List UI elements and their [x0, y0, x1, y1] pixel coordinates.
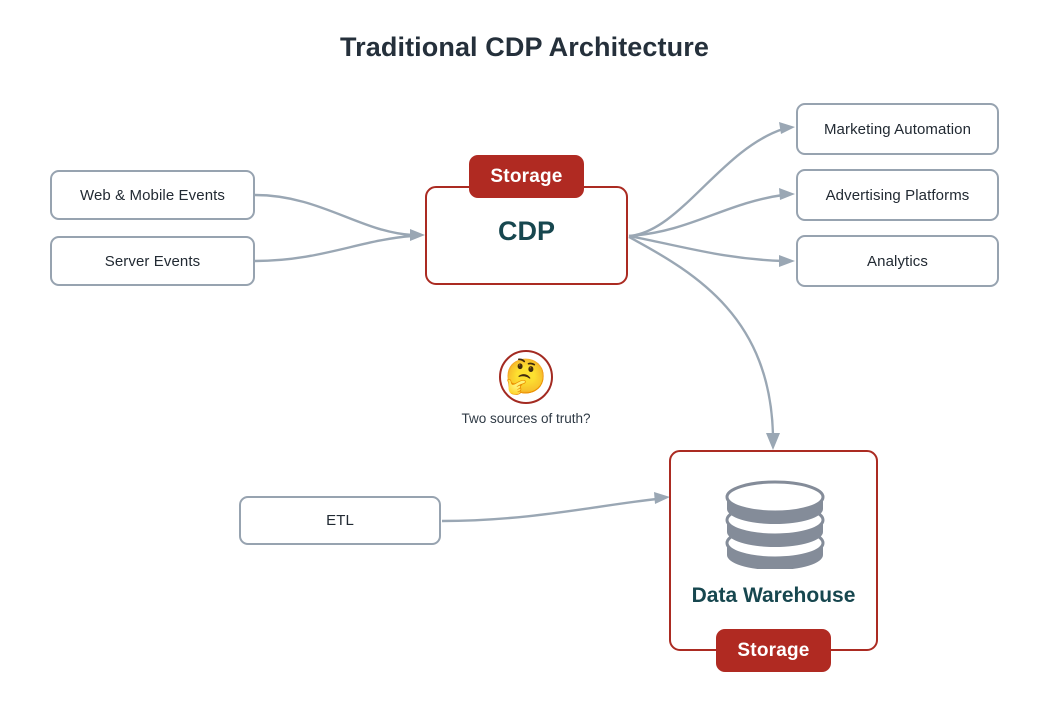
arrowhead-data-warehouse-left [654, 492, 670, 504]
node-web-mobile-events[interactable]: Web & Mobile Events [50, 170, 255, 220]
node-label: Server Events [105, 253, 201, 270]
node-server-events[interactable]: Server Events [50, 236, 255, 286]
node-data-warehouse-label: Data Warehouse [671, 584, 876, 608]
arrowhead-advertising-platforms [779, 188, 795, 200]
node-data-warehouse[interactable]: Data Warehouse [669, 450, 878, 651]
link-server-events-to-cdp [255, 236, 412, 261]
arrowhead-analytics [779, 255, 795, 267]
thinking-emoji-badge: 🤔 [499, 350, 553, 404]
database-cylinder-icon [721, 477, 829, 569]
annotation-caption: Two sources of truth? [396, 411, 656, 426]
arrowhead-data-warehouse-top [766, 433, 780, 450]
thinking-face-icon: 🤔 [505, 360, 547, 394]
link-cdp-to-data-warehouse [629, 237, 773, 435]
link-cdp-to-advertising-platforms [629, 195, 783, 236]
node-etl[interactable]: ETL [239, 496, 441, 545]
node-label: Analytics [867, 253, 928, 270]
link-web-events-to-cdp [255, 195, 412, 235]
arrowhead-marketing-automation [779, 122, 795, 134]
node-label: Marketing Automation [824, 121, 971, 138]
badge-cdp-storage: Storage [469, 155, 584, 198]
page-title: Traditional CDP Architecture [0, 32, 1049, 63]
node-label: Web & Mobile Events [80, 187, 225, 204]
node-analytics[interactable]: Analytics [796, 235, 999, 287]
node-label: ETL [326, 512, 354, 529]
node-advertising-platforms[interactable]: Advertising Platforms [796, 169, 999, 221]
arrowhead-into-cdp [410, 229, 425, 241]
node-cdp-label: CDP [427, 216, 626, 247]
link-etl-to-data-warehouse [442, 499, 657, 521]
link-cdp-to-analytics [629, 236, 783, 261]
node-marketing-automation[interactable]: Marketing Automation [796, 103, 999, 155]
diagram-canvas: Traditional CDP Architecture Web & Mobil… [0, 0, 1049, 709]
node-cdp[interactable]: CDP [425, 186, 628, 285]
node-label: Advertising Platforms [826, 187, 970, 204]
badge-warehouse-storage: Storage [716, 629, 831, 672]
link-cdp-to-marketing-automation [629, 129, 783, 236]
